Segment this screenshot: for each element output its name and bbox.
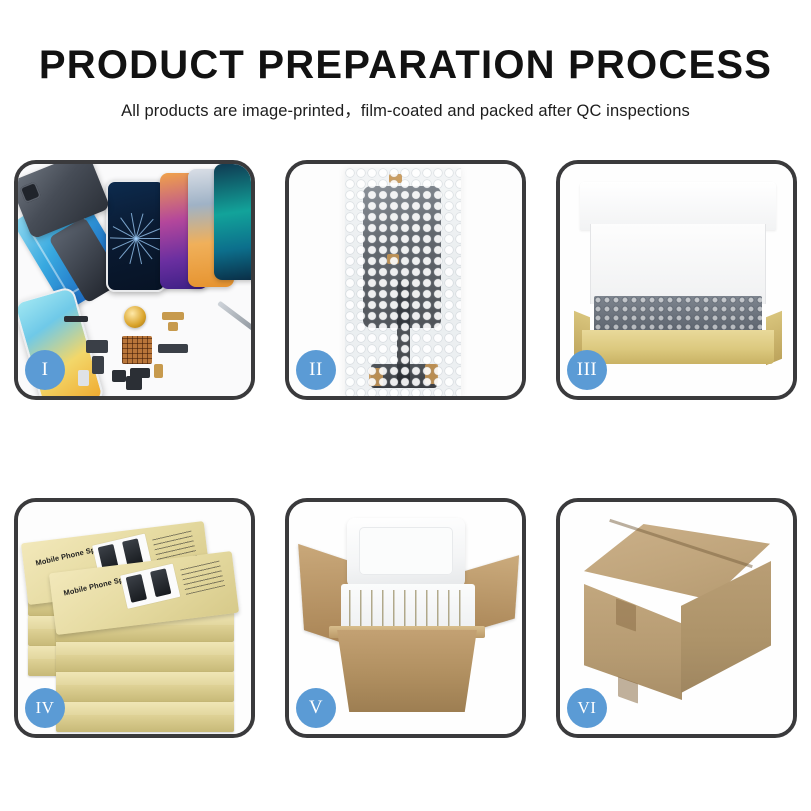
infographic-page: PRODUCT PREPARATION PROCESS All products…: [0, 0, 811, 811]
step-badge-6: VI: [567, 688, 607, 728]
step-panel-2: II: [285, 160, 526, 400]
small-part: [162, 312, 184, 320]
box-front-panel: [582, 330, 774, 364]
small-part: [86, 340, 108, 353]
small-part: [78, 370, 89, 386]
box-back-wall: [590, 224, 766, 304]
page-subtitle: All products are image-printed，film-coat…: [0, 97, 811, 121]
gold-coil-part: [124, 306, 146, 328]
process-step-grid: I II: [14, 160, 797, 738]
step-badge-2: II: [296, 350, 336, 390]
step-panel-3: III: [556, 160, 797, 400]
header: PRODUCT PREPARATION PROCESS All products…: [0, 0, 811, 121]
step-badge-1: I: [25, 350, 65, 390]
step-badge-5: V: [296, 688, 336, 728]
small-part: [112, 370, 126, 382]
step-panel-4: Mobile Phone Spare Parts Mobile Phone Sp…: [14, 498, 255, 738]
foam-box-lid: [347, 518, 465, 588]
box-lid: [580, 182, 776, 230]
small-part: [158, 344, 188, 353]
step-panel-6: VI: [556, 498, 797, 738]
small-part: [64, 316, 88, 322]
copper-mesh-part: [122, 336, 152, 364]
stacked-box: [56, 642, 234, 672]
bubble-texture: [345, 168, 461, 396]
bubble-wrap-insert: [594, 296, 762, 334]
teal-gradient-phone: [214, 164, 251, 280]
step-badge-3: III: [567, 350, 607, 390]
cracked-glass-screen: [106, 180, 166, 292]
page-title: PRODUCT PREPARATION PROCESS: [0, 44, 811, 86]
stacked-box: [56, 672, 234, 702]
box-spec-text: [180, 559, 225, 595]
small-part: [126, 376, 142, 390]
shatter-pattern: [136, 238, 137, 239]
step-panel-5: V: [285, 498, 526, 738]
carton-body: [331, 630, 483, 712]
box-product-photo: [120, 564, 180, 609]
step-panel-1: I: [14, 160, 255, 400]
stacked-box: [56, 702, 234, 732]
tweezers-tool: [217, 301, 251, 333]
small-part: [154, 364, 163, 378]
bubble-wrap-bag: [345, 168, 461, 396]
small-part: [168, 322, 178, 331]
step-badge-4: IV: [25, 688, 65, 728]
small-part: [92, 356, 104, 374]
